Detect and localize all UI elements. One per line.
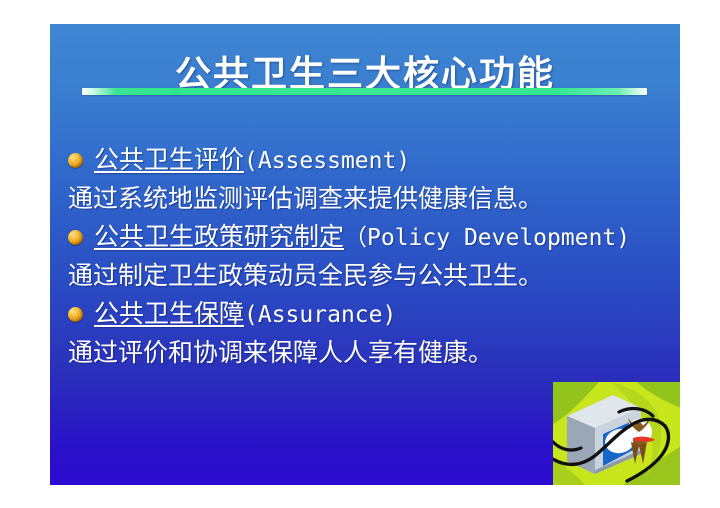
- detail-text: 通过评价和协调来保障人人享有健康。: [68, 338, 493, 367]
- detail-text: 通过制定卫生政策动员全民参与公共卫生。: [68, 261, 543, 290]
- detail-line-policy-development: 通过制定卫生政策动员全民参与公共卫生。: [62, 257, 680, 295]
- detail-line-assurance: 通过评价和协调来保障人人享有健康。: [62, 334, 680, 372]
- body-text-block: 公共卫生评价(Assessment) 通过系统地监测评估调查来提供健康信息。 公…: [62, 141, 680, 372]
- gold-sphere-bullet-icon: [68, 230, 83, 245]
- bullet-item-assessment: 公共卫生评价(Assessment): [62, 141, 680, 180]
- slide-page: 公共卫生三大核心功能 公共卫生评价(Assessment) 通过系统地监测评估调…: [0, 0, 720, 508]
- bullet-item-label: 公共卫生评价: [94, 145, 244, 174]
- gold-sphere-bullet-icon: [68, 307, 83, 322]
- detail-line-assessment: 通过系统地监测评估调查来提供健康信息。: [62, 180, 680, 218]
- bullet-item-policy-development: 公共卫生政策研究制定（Policy Development): [62, 218, 680, 257]
- computer-monitor-and-person-clipart: [553, 382, 680, 485]
- detail-text: 通过系统地监测评估调查来提供健康信息。: [68, 184, 543, 213]
- bullet-item-english-term: (Assessment): [244, 148, 410, 174]
- title-underline-rule: [82, 88, 647, 95]
- bullet-item-label: 公共卫生政策研究制定: [94, 222, 344, 251]
- presentation-slide: 公共卫生三大核心功能 公共卫生评价(Assessment) 通过系统地监测评估调…: [50, 24, 680, 485]
- gold-sphere-bullet-icon: [68, 153, 83, 168]
- bullet-item-label: 公共卫生保障: [94, 299, 244, 328]
- bullet-item-english-term: (Assurance): [244, 302, 396, 328]
- bullet-item-english-term: （Policy Development): [344, 225, 630, 251]
- bullet-item-assurance: 公共卫生保障(Assurance): [62, 295, 680, 334]
